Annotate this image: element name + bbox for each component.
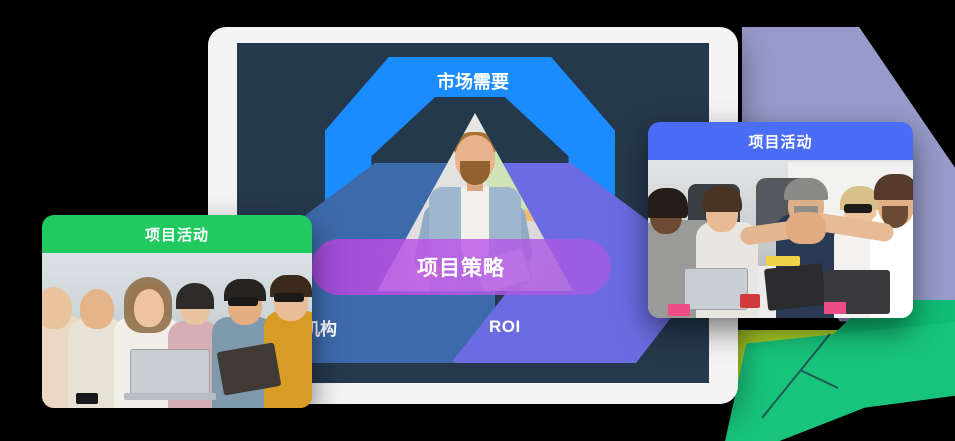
card-left-header: 项目活动 bbox=[42, 215, 312, 253]
center-strategy-pill[interactable]: 项目策略 bbox=[311, 239, 611, 295]
card-left-title: 项目活动 bbox=[145, 224, 209, 245]
scene-root: MARKETING STRATEGY 项目策略 市场需要 负责机构 bbox=[0, 0, 955, 441]
decor-green-line bbox=[760, 330, 870, 420]
card-project-activity-right[interactable]: 项目活动 bbox=[648, 122, 913, 318]
label-market-demand: 市场需要 bbox=[237, 68, 709, 94]
card-right-header: 项目活动 bbox=[648, 122, 913, 160]
card-project-activity-left[interactable]: 项目活动 bbox=[42, 215, 312, 408]
label-roi: ROI bbox=[489, 317, 521, 337]
card-right-photo bbox=[648, 160, 913, 318]
card-right-title: 项目活动 bbox=[748, 131, 812, 152]
card-left-photo bbox=[42, 253, 312, 408]
center-strategy-label: 项目策略 bbox=[417, 252, 505, 282]
